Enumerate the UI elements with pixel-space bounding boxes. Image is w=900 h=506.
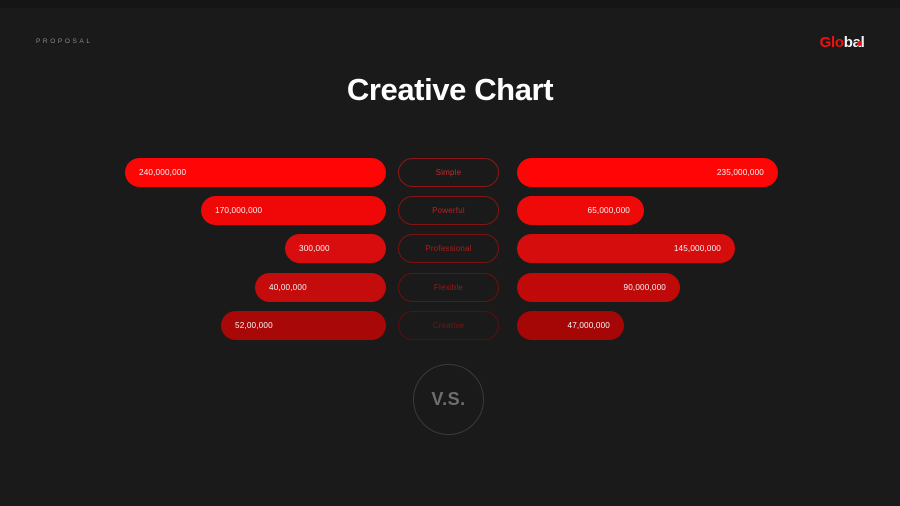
bar-left[interactable]: 40,00,000	[255, 273, 386, 302]
bar-right[interactable]: 90,000,000	[517, 273, 680, 302]
bar-right[interactable]: 65,000,000	[517, 196, 644, 225]
brand-logo: Global	[820, 34, 862, 51]
creative-chart: 240,000,000Simple235,000,000170,000,000P…	[0, 158, 900, 349]
versus-badge: V.S.	[413, 364, 484, 435]
bar-group-right: 65,000,000	[517, 196, 817, 225]
bar-group-left: 52,00,000	[0, 311, 386, 340]
bar-left[interactable]: 240,000,000	[125, 158, 386, 187]
slide-canvas: PROPOSAL Global Creative Chart 240,000,0…	[0, 0, 900, 506]
bar-right[interactable]: 47,000,000	[517, 311, 624, 340]
bar-group-left: 170,000,000	[0, 196, 386, 225]
category-pill[interactable]: Powerful	[398, 196, 499, 225]
chart-row: 240,000,000Simple235,000,000	[0, 158, 900, 196]
category-pill[interactable]: Flexible	[398, 273, 499, 302]
versus-label: V.S.	[431, 389, 465, 410]
eyebrow-label: PROPOSAL	[36, 38, 93, 45]
chart-row: 40,00,000Flexible90,000,000	[0, 273, 900, 311]
chart-row: 52,00,000Creative47,000,000	[0, 311, 900, 349]
bar-group-left: 240,000,000	[0, 158, 386, 187]
logo-dot-icon	[857, 41, 862, 46]
chart-row: 300,000Professional145,000,000	[0, 234, 900, 272]
category-pill[interactable]: Professional	[398, 234, 499, 263]
category-pill[interactable]: Creative	[398, 311, 499, 340]
bar-group-right: 47,000,000	[517, 311, 817, 340]
bar-right[interactable]: 145,000,000	[517, 234, 735, 263]
top-accent-band	[0, 0, 900, 8]
logo-text-red: Glo	[820, 34, 844, 51]
bar-group-right: 235,000,000	[517, 158, 817, 187]
chart-row: 170,000,000Powerful65,000,000	[0, 196, 900, 234]
page-title: Creative Chart	[0, 72, 900, 108]
category-pill[interactable]: Simple	[398, 158, 499, 187]
bar-left[interactable]: 300,000	[285, 234, 386, 263]
bar-left[interactable]: 170,000,000	[201, 196, 386, 225]
bar-group-left: 40,00,000	[0, 273, 386, 302]
bar-right[interactable]: 235,000,000	[517, 158, 778, 187]
bar-group-right: 145,000,000	[517, 234, 817, 263]
bar-left[interactable]: 52,00,000	[221, 311, 386, 340]
bar-group-left: 300,000	[0, 234, 386, 263]
bar-group-right: 90,000,000	[517, 273, 817, 302]
